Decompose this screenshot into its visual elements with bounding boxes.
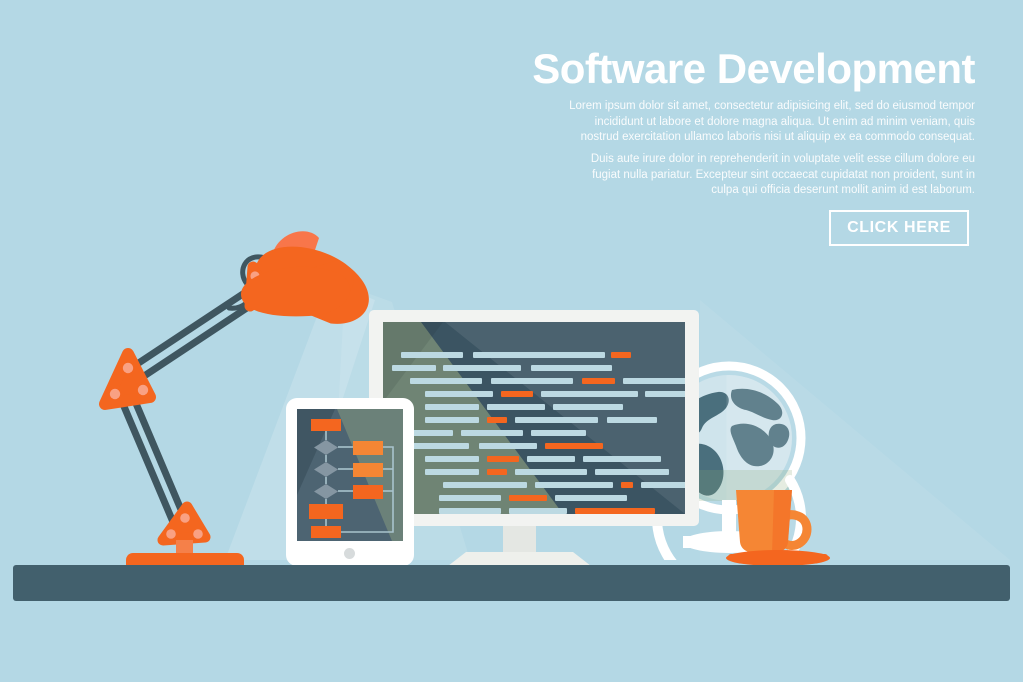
flow-node-decision bbox=[314, 440, 338, 455]
code-line-segment bbox=[509, 508, 567, 514]
hero-paragraph-1: Lorem ipsum dolor sit amet, consectetur … bbox=[565, 99, 975, 146]
flowchart-diagram bbox=[297, 409, 403, 541]
code-line-segment bbox=[392, 365, 436, 371]
flow-node-process bbox=[353, 463, 383, 477]
code-line-segment bbox=[487, 469, 507, 475]
code-line-segment bbox=[491, 378, 573, 384]
code-line-segment bbox=[425, 404, 479, 410]
code-line-segment bbox=[527, 456, 575, 462]
code-line-segment bbox=[575, 508, 655, 514]
artboard: Software Development Lorem ipsum dolor s… bbox=[0, 0, 1023, 682]
code-line-segment bbox=[410, 378, 482, 384]
code-line-segment bbox=[611, 352, 631, 358]
page-title: Software Development bbox=[430, 44, 975, 94]
code-line-segment bbox=[545, 443, 603, 449]
code-line-segment bbox=[555, 495, 627, 501]
code-line-segment bbox=[621, 482, 633, 488]
code-line-segment bbox=[531, 430, 586, 436]
code-line-segment bbox=[425, 417, 479, 423]
code-line-segment bbox=[509, 495, 547, 501]
monitor-screen bbox=[383, 322, 685, 514]
tablet-device bbox=[286, 398, 414, 566]
code-line-segment bbox=[645, 391, 685, 397]
code-line-segment bbox=[443, 365, 521, 371]
code-line-segment bbox=[535, 482, 613, 488]
code-line-segment bbox=[515, 469, 587, 475]
click-here-button[interactable]: CLICK HERE bbox=[829, 210, 969, 246]
flow-node-process bbox=[309, 504, 343, 519]
code-line-segment bbox=[425, 391, 493, 397]
code-line-segment bbox=[487, 417, 507, 423]
lamp-lower-arm bbox=[120, 394, 185, 522]
flow-node-decision bbox=[314, 462, 338, 477]
code-line-segment bbox=[425, 469, 479, 475]
monitor-stand-base bbox=[448, 552, 591, 566]
code-line-segment bbox=[641, 482, 685, 488]
illustration-canvas: Software Development Lorem ipsum dolor s… bbox=[0, 0, 1023, 682]
code-line-segment bbox=[623, 378, 685, 384]
flow-node-process bbox=[311, 526, 341, 538]
code-line-segment bbox=[487, 456, 519, 462]
code-line-segment bbox=[541, 391, 638, 397]
code-line-segment bbox=[553, 404, 623, 410]
code-line-segment bbox=[401, 352, 463, 358]
code-line-segment bbox=[582, 378, 615, 384]
code-line-segment bbox=[501, 391, 533, 397]
tablet-screen bbox=[297, 409, 403, 541]
code-line-segment bbox=[479, 443, 537, 449]
code-line-segment bbox=[461, 430, 523, 436]
code-line-segment bbox=[473, 352, 605, 358]
code-line-segment bbox=[439, 508, 501, 514]
flow-node-process bbox=[353, 485, 383, 499]
code-line-segment bbox=[439, 495, 501, 501]
code-line-segment bbox=[531, 365, 612, 371]
hero-paragraph-2: Duis aute irure dolor in reprehenderit i… bbox=[565, 152, 975, 199]
code-line-segment bbox=[487, 404, 545, 410]
code-line-segment bbox=[583, 456, 661, 462]
desktop-monitor bbox=[369, 310, 699, 526]
code-line-segment bbox=[595, 469, 669, 475]
code-line-segment bbox=[607, 417, 657, 423]
desk-surface bbox=[13, 565, 1010, 601]
flow-node-process bbox=[311, 419, 341, 431]
code-line-segment bbox=[515, 417, 598, 423]
coffee-cup bbox=[722, 478, 842, 570]
flow-node-decision bbox=[314, 484, 338, 499]
code-line-segment bbox=[425, 456, 479, 462]
tablet-home-button[interactable] bbox=[344, 548, 355, 559]
flow-node-process bbox=[353, 441, 383, 455]
code-line-segment bbox=[443, 482, 527, 488]
